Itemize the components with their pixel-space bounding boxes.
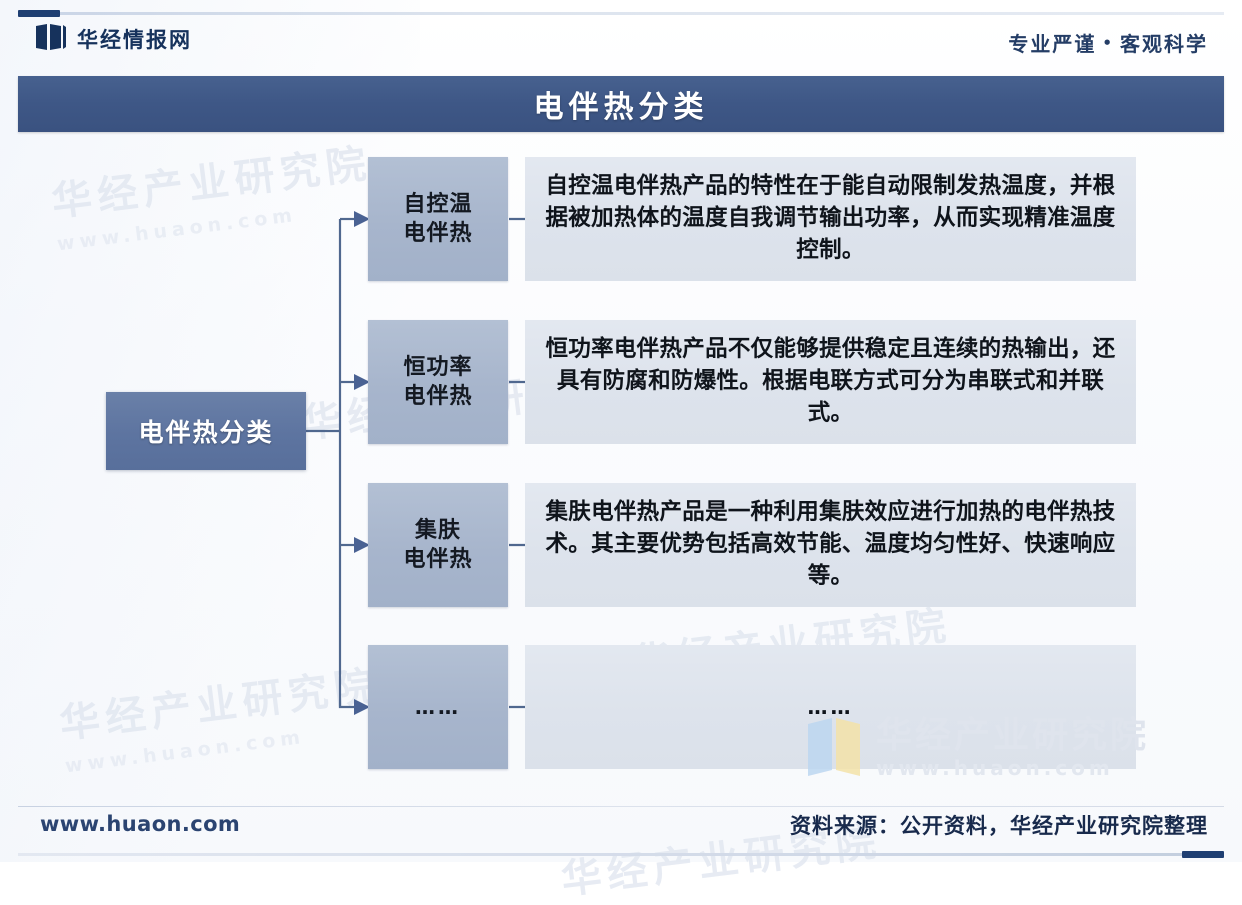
category-box[interactable]: 集肤电伴热 <box>368 483 508 607</box>
bottom-divider <box>18 853 1224 856</box>
page-root: 华经情报网 专业严谨•客观科学 电伴热分类 华经产业研究院 www.huaon.… <box>0 0 1242 862</box>
category-box[interactable]: 恒功率电伴热 <box>368 320 508 444</box>
description-box[interactable]: 集肤电伴热产品是一种利用集肤效应进行加热的电伴热技术。其主要优势包括高效节能、温… <box>525 483 1136 607</box>
diagram-canvas: 电伴热分类 自控温电伴热 自控温电伴热产品的特性在于能自动限制发热温度，并根据被… <box>0 132 1242 792</box>
title-band: 电伴热分类 <box>18 76 1224 132</box>
top-divider-cap <box>18 10 60 17</box>
root-node-label: 电伴热分类 <box>138 413 273 449</box>
page-title: 电伴热分类 <box>534 82 709 126</box>
header: 华经情报网 专业严谨•客观科学 <box>0 18 1242 70</box>
description-box[interactable]: 自控温电伴热产品的特性在于能自动限制发热温度，并根据被加热体的温度自我调节输出功… <box>525 157 1136 281</box>
root-node[interactable]: 电伴热分类 <box>106 392 306 470</box>
tagline-left: 专业严谨 <box>1008 32 1096 56</box>
description-text: 恒功率电伴热产品不仅能够提供稳定且连续的热输出，还具有防腐和防爆性。根据电联方式… <box>539 334 1122 430</box>
tagline-separator: • <box>1096 34 1120 52</box>
top-divider <box>18 12 1224 15</box>
footer-site-link[interactable]: www.huaon.com <box>40 812 240 836</box>
bottom-divider-cap <box>1182 851 1224 858</box>
footer-source-note: 资料来源：公开资料，华经产业研究院整理 <box>790 810 1208 840</box>
footer-divider <box>18 806 1224 807</box>
brand-name: 华经情报网 <box>77 24 192 54</box>
category-label: 恒功率电伴热 <box>403 353 472 411</box>
brand: 华经情报网 <box>36 24 192 54</box>
description-text: …… <box>808 693 854 721</box>
category-box[interactable]: …… <box>368 645 508 769</box>
category-label: …… <box>415 694 461 720</box>
description-text: 自控温电伴热产品的特性在于能自动限制发热温度，并根据被加热体的温度自我调节输出功… <box>539 171 1122 267</box>
tagline-right: 客观科学 <box>1120 32 1208 56</box>
description-box[interactable]: …… <box>525 645 1136 769</box>
footer: www.huaon.com 资料来源：公开资料，华经产业研究院整理 <box>0 808 1242 848</box>
category-label: 自控温电伴热 <box>403 190 472 248</box>
description-text: 集肤电伴热产品是一种利用集肤效应进行加热的电伴热技术。其主要优势包括高效节能、温… <box>539 497 1122 593</box>
category-label: 集肤电伴热 <box>403 516 472 574</box>
huajing-bowtie-logo-icon <box>36 24 66 54</box>
category-box[interactable]: 自控温电伴热 <box>368 157 508 281</box>
description-box[interactable]: 恒功率电伴热产品不仅能够提供稳定且连续的热输出，还具有防腐和防爆性。根据电联方式… <box>525 320 1136 444</box>
header-tagline: 专业严谨•客观科学 <box>1008 28 1208 57</box>
